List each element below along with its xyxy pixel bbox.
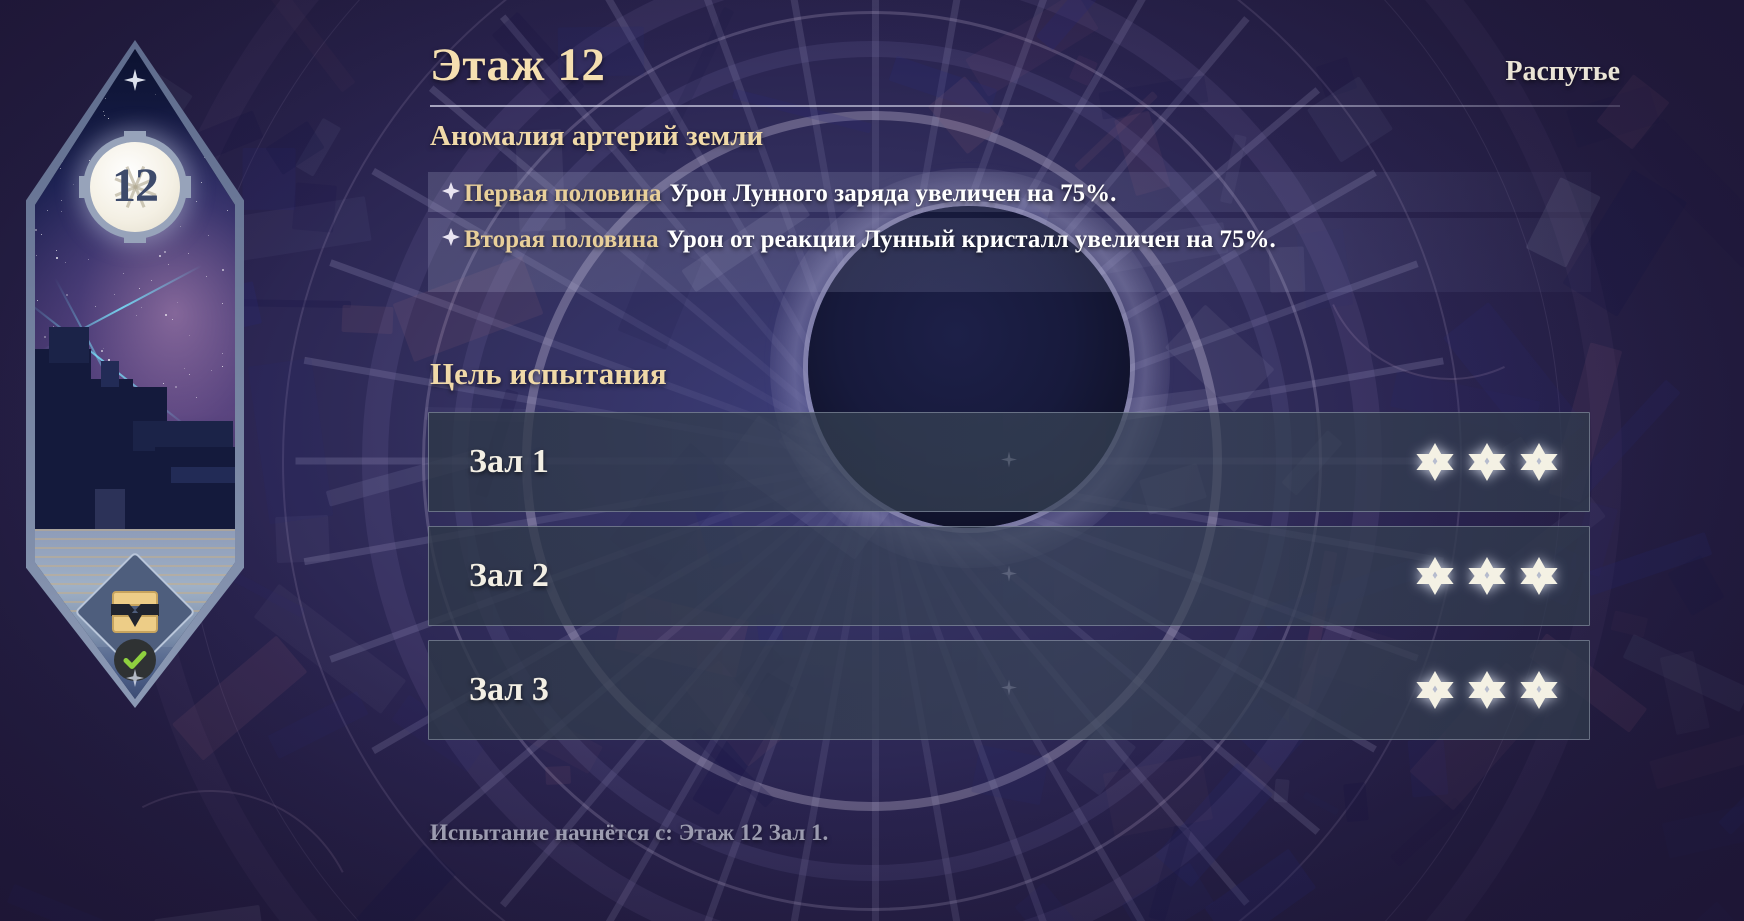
card-sparkle-bottom — [126, 669, 144, 692]
star-dust — [114, 294, 115, 295]
star-dust — [172, 319, 173, 320]
star-icon — [1467, 670, 1507, 710]
room-row[interactable]: Зал 1 — [428, 412, 1590, 512]
goal-section-heading: Цель испытания — [430, 356, 667, 392]
anomaly-effect-text: Урон от реакции Лунный кристалл увеличен… — [667, 226, 1276, 253]
floor-detail-panel: Этаж 12 Распутье Аномалия артерий земли … — [420, 0, 1744, 921]
star-dust — [177, 302, 178, 303]
star-dust — [101, 350, 103, 352]
star-dust — [37, 300, 38, 301]
anomaly-phase-label: Первая половина — [464, 180, 662, 207]
sparkle-icon — [124, 69, 146, 91]
star-dust — [227, 210, 228, 211]
diamond-sparkle-icon — [442, 228, 460, 246]
star-dust — [204, 157, 205, 158]
page-title: Этаж 12 — [430, 38, 605, 92]
castle-block-2 — [49, 327, 89, 363]
star-dust — [92, 95, 94, 97]
star-dust — [47, 210, 48, 211]
star-dust — [73, 99, 74, 100]
star-dust — [88, 259, 89, 260]
star-dust — [222, 353, 223, 354]
star-dust — [103, 111, 104, 112]
star-dust — [68, 99, 69, 100]
star-dust — [61, 96, 63, 98]
star-icon — [1519, 556, 1559, 596]
sparkle-icon — [126, 669, 144, 687]
anomaly-section-heading: Аномалия артерий земли — [430, 120, 763, 153]
star-dust — [175, 386, 177, 388]
star-dust — [41, 234, 42, 235]
star-dust — [56, 250, 57, 251]
star-dust — [79, 115, 80, 116]
floor-card[interactable]: 12 — [26, 40, 244, 708]
star-dust — [74, 65, 75, 66]
star-dust — [79, 100, 80, 101]
star-dust — [182, 65, 183, 66]
castle-block-4 — [101, 361, 119, 387]
row-sparkle-icon — [1001, 680, 1017, 701]
star-dust — [196, 88, 198, 90]
chest-lid — [112, 591, 158, 606]
star-dust — [206, 276, 207, 277]
star-icon — [1519, 442, 1559, 482]
star-dust — [184, 368, 185, 369]
star-dust — [151, 280, 152, 281]
star-dust — [108, 118, 109, 119]
star-dust — [105, 98, 106, 99]
star-dust — [65, 262, 66, 263]
floor-card-artwork — [35, 49, 235, 529]
star-dust — [75, 113, 76, 114]
star-dust — [104, 115, 105, 116]
anomaly-entry: Вторая половинаУрон от реакции Лунный кр… — [428, 218, 1591, 292]
star-dust — [165, 314, 167, 316]
castle-tower — [95, 489, 125, 529]
diamond-sparkle-icon — [442, 182, 460, 200]
star-dust — [60, 168, 61, 169]
star-dust — [201, 182, 202, 183]
room-name-label: Зал 3 — [469, 671, 549, 709]
star-dust — [159, 255, 161, 257]
floor-number-label: 12 — [83, 135, 187, 239]
star-dust — [208, 235, 209, 236]
room-star-rating — [1415, 556, 1559, 596]
row-sparkle-icon — [1001, 566, 1017, 587]
star-dust — [44, 336, 46, 338]
star-dust — [186, 111, 188, 113]
star-dust — [222, 366, 223, 367]
star-dust — [56, 257, 58, 259]
star-dust — [61, 200, 62, 201]
star-dust — [61, 211, 62, 212]
treasure-chest-icon — [112, 591, 158, 633]
star-dust — [35, 229, 37, 231]
anomaly-effect-text: Урон Лунного заряда увеличен на 75%. — [670, 180, 1117, 207]
floor-number-medallion: 12 — [83, 135, 187, 239]
header-row: Этаж 12 Распутье — [430, 38, 1620, 92]
star-dust — [37, 122, 38, 123]
star-icon — [1519, 670, 1559, 710]
castle-wall-2 — [171, 467, 235, 483]
star-dust — [196, 201, 197, 202]
star-dust — [139, 288, 140, 289]
star-dust — [94, 77, 95, 78]
star-dust — [218, 132, 219, 133]
star-dust — [222, 269, 224, 271]
star-dust — [198, 97, 199, 98]
star-dust — [196, 397, 197, 398]
star-dust — [206, 50, 208, 52]
star-icon — [1415, 670, 1455, 710]
anomaly-entry: Первая половинаУрон Лунного заряда увели… — [428, 172, 1591, 212]
star-dust — [41, 62, 42, 63]
star-dust — [66, 294, 68, 296]
castle-block-6 — [155, 447, 235, 529]
star-dust — [103, 348, 104, 349]
star-dust — [136, 315, 137, 316]
star-dust — [168, 264, 169, 265]
star-dust — [189, 335, 190, 336]
room-row[interactable]: Зал 2 — [428, 526, 1590, 626]
anomaly-phase-label: Вторая половина — [464, 226, 659, 253]
star-dust — [95, 306, 96, 307]
star-dust — [186, 94, 187, 95]
header-divider — [430, 105, 1620, 107]
star-icon — [1467, 556, 1507, 596]
star-dust — [195, 78, 197, 80]
star-dust — [76, 52, 77, 53]
star-dust — [73, 184, 74, 185]
star-icon — [1467, 442, 1507, 482]
room-name-label: Зал 1 — [469, 443, 549, 481]
room-name-label: Зал 2 — [469, 557, 549, 595]
card-sparkle-top — [124, 69, 146, 96]
mode-title: Распутье — [1505, 56, 1620, 88]
bullet-diamond-icon — [438, 178, 464, 206]
anomaly-text: Первая половинаУрон Лунного заряда увели… — [464, 178, 1587, 206]
room-star-rating — [1415, 670, 1559, 710]
star-dust — [211, 100, 212, 101]
start-note: Испытание начнётся с: Этаж 12 Зал 1. — [430, 820, 828, 846]
star-dust — [155, 94, 156, 95]
star-dust — [211, 370, 212, 371]
star-dust — [163, 383, 164, 384]
genshin-abyss-floor-screen: 12 — [0, 0, 1744, 921]
floor-progress-markers — [105, 691, 165, 699]
star-icon — [1415, 556, 1455, 596]
star-dust — [164, 251, 166, 253]
star-dust — [188, 253, 189, 254]
bullet-diamond-icon — [438, 224, 464, 286]
star-dust — [141, 307, 142, 308]
star-dust — [52, 74, 53, 75]
star-dust — [57, 128, 58, 129]
star-dust — [123, 273, 124, 274]
room-row[interactable]: Зал 3 — [428, 640, 1590, 740]
anomaly-text: Вторая половинаУрон от реакции Лунный кр… — [464, 224, 1587, 286]
star-dust — [189, 374, 190, 375]
star-dust — [222, 303, 223, 304]
room-star-rating — [1415, 442, 1559, 482]
star-icon — [1415, 442, 1455, 482]
row-sparkle-icon — [1001, 452, 1017, 473]
star-dust — [36, 255, 37, 256]
